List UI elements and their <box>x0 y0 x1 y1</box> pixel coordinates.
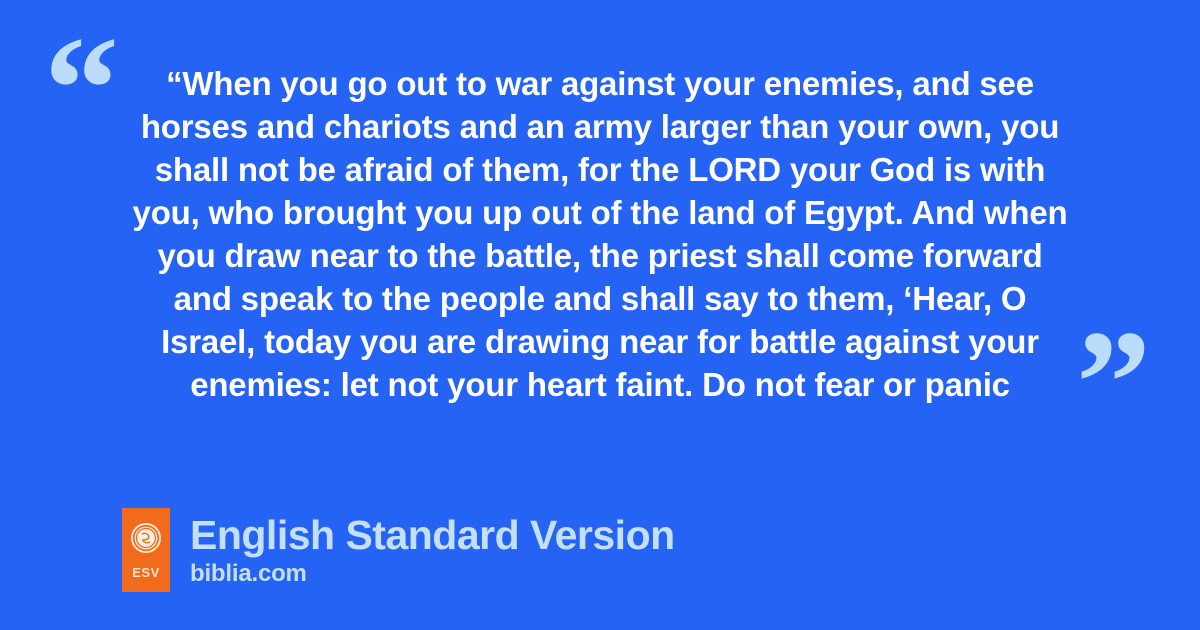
opening-quote-icon: “ <box>44 14 119 164</box>
esv-logo-badge: ESV <box>122 508 170 592</box>
quote-line: enemies: let not your heart faint. Do no… <box>110 363 1090 406</box>
badge-label: ESV <box>132 565 160 580</box>
brand-footer: ESV English Standard Version biblia.com <box>122 508 675 592</box>
brand-text-block: English Standard Version biblia.com <box>190 512 675 588</box>
quote-line: shall not be afraid of them, for the LOR… <box>110 148 1090 191</box>
esv-seal-icon <box>131 523 161 553</box>
quote-line: and speak to the people and shall say to… <box>110 277 1090 320</box>
quote-line: horses and chariots and an army larger t… <box>110 105 1090 148</box>
quote-card: “ ” “When you go out to war against your… <box>0 0 1200 630</box>
quote-text-block: “When you go out to war against your ene… <box>110 62 1090 406</box>
brand-title: English Standard Version <box>190 512 675 558</box>
quote-line: Israel, today you are drawing near for b… <box>110 320 1090 363</box>
brand-url[interactable]: biblia.com <box>190 560 675 588</box>
quote-line: “When you go out to war against your ene… <box>110 62 1090 105</box>
quote-line: you, who brought you up out of the land … <box>110 191 1090 234</box>
quote-line: you draw near to the battle, the priest … <box>110 234 1090 277</box>
